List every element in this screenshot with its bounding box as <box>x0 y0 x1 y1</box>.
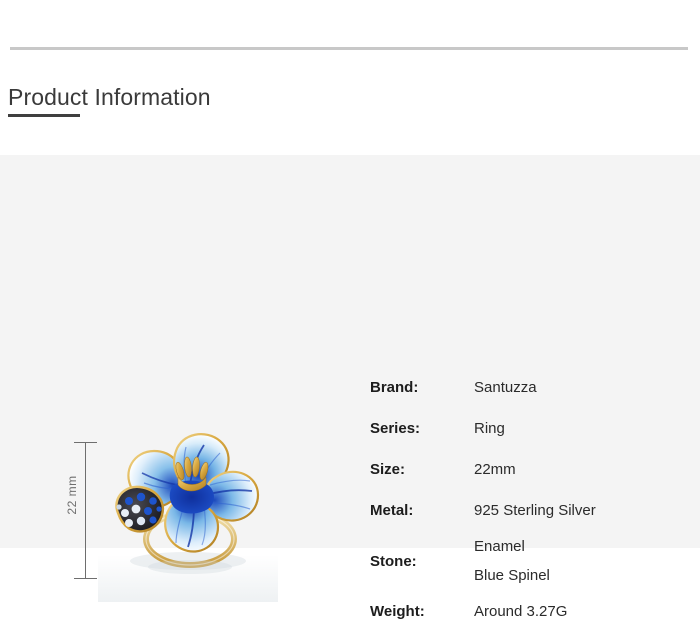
spec-row-series: Series: Ring <box>370 408 670 449</box>
top-divider-rule <box>10 47 688 50</box>
spec-value-stone-line-1: Enamel <box>474 532 550 561</box>
spec-row-brand: Brand: Santuzza <box>370 367 670 408</box>
title-accent-underline <box>8 114 80 117</box>
spec-value-brand: Santuzza <box>474 379 537 396</box>
spec-label-stone: Stone: <box>370 553 474 570</box>
dimension-indicator: 22 mm <box>60 440 100 580</box>
spec-row-metal: Metal: 925 Sterling Silver <box>370 490 670 531</box>
spec-value-size: 22mm <box>474 461 516 478</box>
spec-value-weight: Around 3.27G <box>474 603 567 620</box>
spec-row-stone: Stone: Enamel Blue Spinel <box>370 531 670 591</box>
product-detail-panel: 22 mm <box>0 155 700 548</box>
product-information-page: Product Information 22 mm <box>0 0 700 607</box>
spec-label-brand: Brand: <box>370 379 474 396</box>
page-title: Product Information <box>8 84 211 111</box>
spec-value-stone-line-2: Blue Spinel <box>474 561 550 590</box>
spec-label-weight: Weight: <box>370 603 474 620</box>
spec-row-weight: Weight: Around 3.27G <box>370 591 670 632</box>
spec-label-size: Size: <box>370 461 474 478</box>
specifications-table: Brand: Santuzza Series: Ring Size: 22mm … <box>370 367 670 632</box>
product-image <box>98 427 278 602</box>
spec-label-metal: Metal: <box>370 502 474 519</box>
spec-value-series: Ring <box>474 420 505 437</box>
spec-value-metal: 925 Sterling Silver <box>474 502 596 519</box>
dimension-label: 22 mm <box>65 465 79 525</box>
spec-value-stone: Enamel Blue Spinel <box>474 532 550 590</box>
spec-row-size: Size: 22mm <box>370 449 670 490</box>
spec-label-series: Series: <box>370 420 474 437</box>
dimension-cap-bottom <box>74 578 97 579</box>
dimension-line <box>85 442 86 578</box>
